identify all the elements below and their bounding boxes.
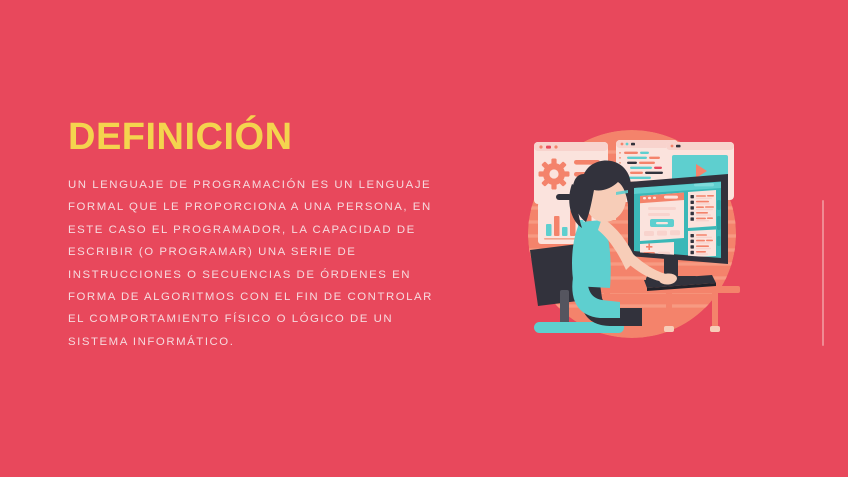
definition-paragraph: UN LENGUAJE DE PROGRAMACIÓN ES UN LENGUA…	[68, 174, 438, 353]
page-title: DEFINICIÓN	[68, 118, 438, 158]
monitor-list-card-top	[688, 190, 716, 228]
monitor-list-card-bottom	[688, 230, 716, 258]
vertical-accent-line	[822, 200, 824, 346]
slide-canvas: DEFINICIÓN UN LENGUAJE DE PROGRAMACIÓN E…	[0, 0, 848, 477]
text-content-block: DEFINICIÓN UN LENGUAJE DE PROGRAMACIÓN E…	[68, 118, 438, 353]
monitor-form-card	[640, 193, 684, 242]
woman-programmer-at-desk-illustration	[516, 130, 748, 352]
gear-icon	[539, 159, 570, 190]
